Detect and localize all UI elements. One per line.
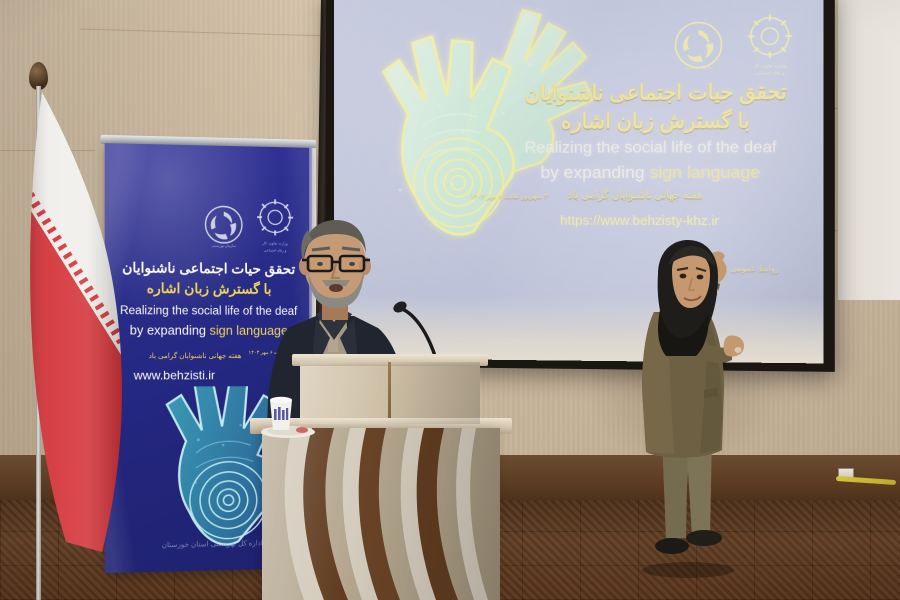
right-wall-light-section [838,0,900,300]
sign-language-interpreter [628,238,762,580]
iran-national-flag [18,92,130,562]
paper-coffee-cup [258,392,320,438]
iran-allah-emblem [127,225,130,312]
lectern-shading [262,428,500,600]
signing-hand-lower [724,335,745,356]
lectern-riser-shadow [300,362,480,424]
wooden-lectern [262,428,500,600]
conference-hall-photo: سازمان بهزیستی وزارت تعاون، کار و رفاه ا… [0,0,900,600]
